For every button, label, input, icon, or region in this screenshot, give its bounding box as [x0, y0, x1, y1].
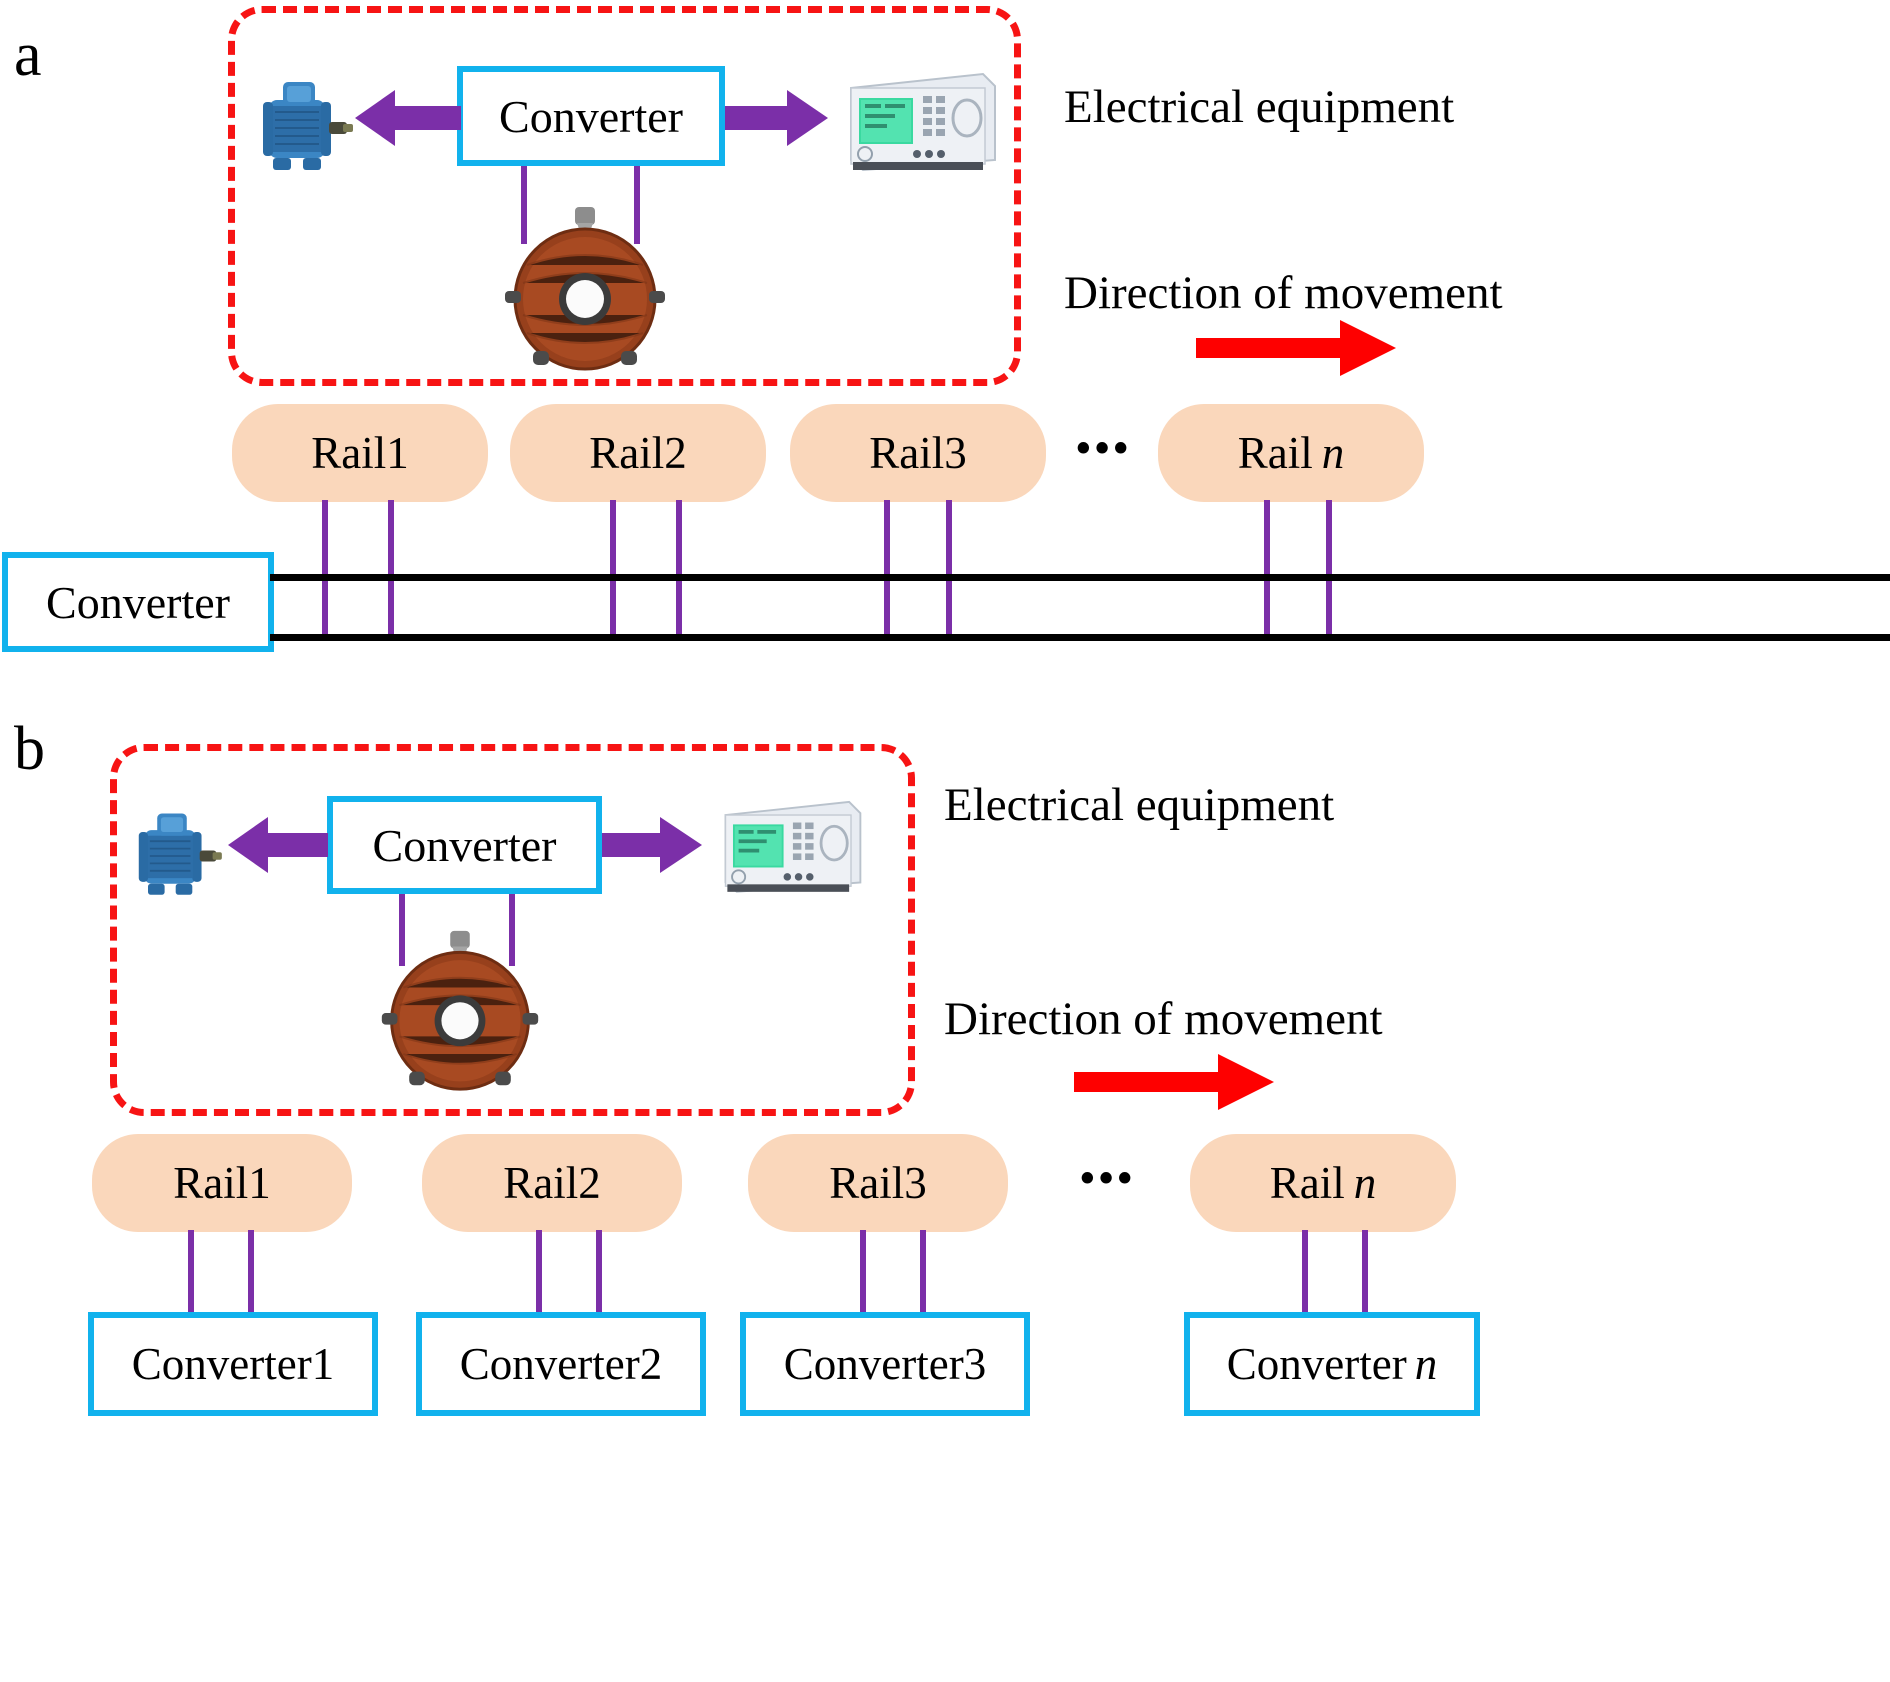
- panel-a-inner-converter-box[interactable]: Converter: [457, 66, 725, 166]
- panel-b-rail-3-wire-right: [920, 1230, 926, 1318]
- rail-label: Rail: [1270, 1157, 1345, 1209]
- panel-b-rail-1-wire-left: [188, 1230, 194, 1318]
- toroidal-coil-icon: [497, 205, 673, 373]
- instrument-icon: [718, 792, 866, 898]
- panel-b-rail-2-wire-right: [596, 1230, 602, 1318]
- panel-a-bottom-converter-box[interactable]: Converter: [2, 552, 274, 652]
- bus-line-top-a: [270, 574, 1890, 581]
- panel-a-inner-converter-label: Converter: [499, 90, 683, 143]
- panel-a-direction-label: Direction of movement: [1064, 270, 1503, 317]
- rail-index: 1: [248, 1157, 271, 1209]
- rail-n-wire-left-a: [1264, 500, 1270, 640]
- rail-label: Rail: [869, 427, 944, 479]
- converter-label: Converter: [784, 1338, 964, 1390]
- panel-b-rail-n[interactable]: Rail n: [1190, 1134, 1456, 1232]
- panel-b-rail-2[interactable]: Rail 2: [422, 1134, 682, 1232]
- panel-b-equipment-label: Electrical equipment: [944, 782, 1334, 829]
- panel-b-rail-1-wire-right: [248, 1230, 254, 1318]
- rail-index: 2: [578, 1157, 601, 1209]
- bus-line-bottom-a: [270, 634, 1890, 641]
- rail-label: Rail: [173, 1157, 248, 1209]
- converter-label: Converter: [460, 1338, 640, 1390]
- rail-label: Rail: [829, 1157, 904, 1209]
- panel-b-rail-ellipsis: •••: [1080, 1158, 1136, 1200]
- rail-2-wire-right-a: [676, 500, 682, 640]
- converter-label: Converter: [1227, 1338, 1407, 1390]
- converter-index: 2: [640, 1338, 663, 1390]
- panel-b-letter: b: [14, 718, 45, 780]
- movement-arrow-b: [1074, 1054, 1274, 1110]
- figure-root: a Converter: [0, 0, 1890, 1682]
- rail-index: 3: [944, 427, 967, 479]
- panel-b-inner-converter-box[interactable]: Converter: [327, 796, 602, 894]
- panel-b-rail-1[interactable]: Rail 1: [92, 1134, 352, 1232]
- panel-b-rail-3-wire-left: [860, 1230, 866, 1318]
- rail-1-wire-left-a: [322, 500, 328, 640]
- panel-b-converter-2[interactable]: Converter 2: [416, 1312, 706, 1416]
- rail-label: Rail: [503, 1157, 578, 1209]
- panel-b-converter-1[interactable]: Converter 1: [88, 1312, 378, 1416]
- panel-a-rail-1[interactable]: Rail 1: [232, 404, 488, 502]
- converter-index: n: [1407, 1338, 1438, 1390]
- panel-b-direction-label: Direction of movement: [944, 996, 1383, 1043]
- panel-a-rail-2[interactable]: Rail 2: [510, 404, 766, 502]
- converter-label: Converter: [132, 1338, 312, 1390]
- rail-label: Rail: [589, 427, 664, 479]
- toroidal-coil-icon: [374, 928, 546, 1094]
- rail-index: 1: [386, 427, 409, 479]
- rail-1-wire-right-a: [388, 500, 394, 640]
- rail-index: 2: [664, 427, 687, 479]
- panel-b-converter-3[interactable]: Converter 3: [740, 1312, 1030, 1416]
- panel-b-rail-n-wire-left: [1302, 1230, 1308, 1318]
- panel-a-rail-ellipsis: •••: [1076, 428, 1132, 470]
- rail-index: 3: [904, 1157, 927, 1209]
- converter-index: 3: [964, 1338, 987, 1390]
- panel-b-inner-converter-label: Converter: [373, 819, 557, 872]
- panel-a-bottom-converter-label: Converter: [46, 576, 230, 629]
- panel-a-letter: a: [14, 24, 42, 86]
- panel-b-rail-n-wire-right: [1362, 1230, 1368, 1318]
- rail-index: n: [1345, 1157, 1377, 1209]
- converter-index: 1: [312, 1338, 335, 1390]
- panel-b-rail-3[interactable]: Rail 3: [748, 1134, 1008, 1232]
- rail-label: Rail: [311, 427, 386, 479]
- rail-n-wire-right-a: [1326, 500, 1332, 640]
- panel-a-rail-n[interactable]: Rail n: [1158, 404, 1424, 502]
- motor-icon: [243, 76, 355, 180]
- rail-3-wire-right-a: [946, 500, 952, 640]
- rail-3-wire-left-a: [884, 500, 890, 640]
- panel-a-equipment-label: Electrical equipment: [1064, 84, 1454, 131]
- movement-arrow-a: [1196, 320, 1396, 376]
- panel-a-rail-3[interactable]: Rail 3: [790, 404, 1046, 502]
- motor-icon: [120, 808, 224, 904]
- rail-label: Rail: [1238, 427, 1313, 479]
- instrument-icon: [843, 64, 1001, 176]
- panel-b-rail-2-wire-left: [536, 1230, 542, 1318]
- rail-index: n: [1313, 427, 1345, 479]
- rail-2-wire-left-a: [610, 500, 616, 640]
- panel-b-converter-n[interactable]: Converter n: [1184, 1312, 1480, 1416]
